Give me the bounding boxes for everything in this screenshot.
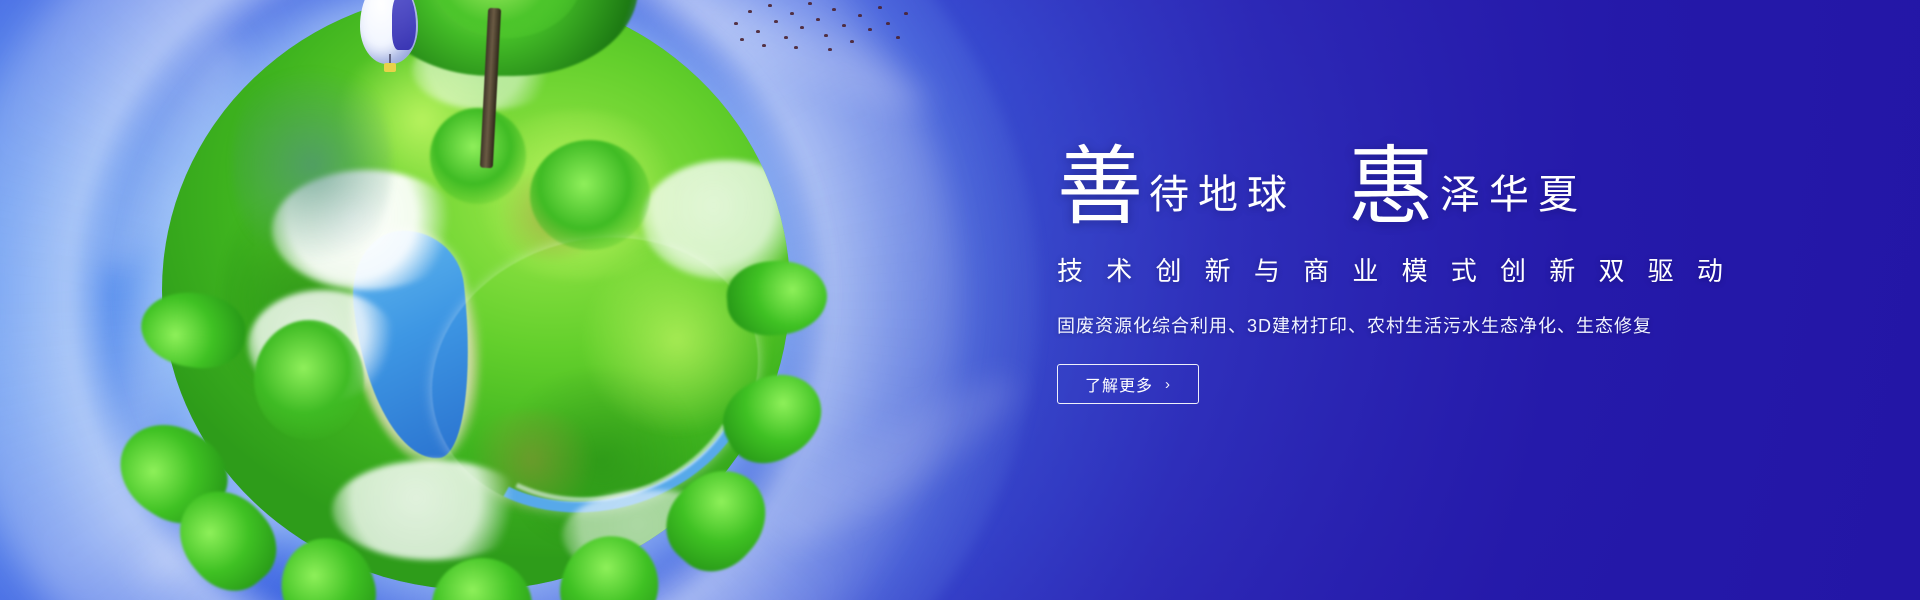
bird-icon: [878, 6, 882, 9]
description: 固废资源化综合利用、3D建材打印、农村生活污水生态净化、生态修复: [1057, 312, 1837, 338]
bird-flock: [728, 0, 908, 52]
bird-icon: [800, 26, 804, 29]
rim-tree: [725, 258, 830, 339]
mountain-ridge: [232, 50, 392, 280]
hero-copy: 善 待地球 惠 泽华夏 技 术 创 新 与 商 业 模 式 创 新 双 驱 动 …: [1057, 148, 1837, 404]
hot-air-balloon: [360, 0, 418, 64]
learn-more-label: 了解更多: [1085, 372, 1153, 396]
bird-icon: [774, 20, 778, 23]
bird-icon: [816, 18, 820, 21]
headline-rest-1: 待地球: [1149, 175, 1296, 227]
bird-icon: [868, 28, 872, 31]
soil-patch: [462, 410, 602, 510]
bird-icon: [762, 44, 766, 47]
grass-shadow: [222, 170, 392, 430]
bird-icon: [756, 30, 760, 33]
bird-icon: [896, 36, 900, 39]
headline-phrase-1: 善 待地球: [1057, 148, 1296, 227]
bird-icon: [734, 22, 738, 25]
bird-icon: [904, 12, 908, 15]
headline-phrase-2: 惠 泽华夏: [1348, 148, 1587, 227]
lake-shoreline: [335, 216, 496, 479]
bird-icon: [748, 10, 752, 13]
learn-more-button[interactable]: 了解更多 ›: [1057, 364, 1199, 404]
balloon-basket: [384, 63, 396, 72]
bird-icon: [824, 34, 828, 37]
surface-cloud: [332, 460, 532, 560]
bird-icon: [832, 8, 836, 11]
bird-icon: [858, 14, 862, 17]
bird-icon: [768, 4, 772, 7]
subtitle: 技 术 创 新 与 商 业 模 式 创 新 双 驱 动: [1057, 251, 1837, 288]
hero-banner: 善 待地球 惠 泽华夏 技 术 创 新 与 商 业 模 式 创 新 双 驱 动 …: [0, 0, 1920, 600]
surface-cloud: [272, 170, 462, 290]
headline-lead-char-1: 善: [1057, 148, 1143, 227]
bird-icon: [808, 2, 812, 5]
tiny-planet-illustration: [132, 0, 832, 600]
soil-patch: [492, 170, 612, 260]
bird-icon: [850, 40, 854, 43]
grass-highlight: [462, 110, 692, 280]
balloon-stripe: [392, 0, 416, 50]
globe-tree: [530, 140, 650, 250]
lake: [346, 225, 481, 465]
bird-icon: [794, 46, 798, 49]
headline: 善 待地球 惠 泽华夏: [1057, 148, 1837, 227]
bird-icon: [790, 12, 794, 15]
surface-cloud: [248, 290, 398, 400]
bird-icon: [828, 48, 832, 51]
globe-tree: [430, 108, 526, 204]
bird-icon: [740, 38, 744, 41]
headline-rest-2: 泽华夏: [1440, 175, 1587, 227]
bird-icon: [886, 22, 890, 25]
chevron-right-icon: ›: [1165, 376, 1171, 393]
bird-icon: [784, 36, 788, 39]
globe-tree: [254, 320, 364, 440]
bird-icon: [842, 24, 846, 27]
headline-lead-char-2: 惠: [1348, 148, 1434, 227]
